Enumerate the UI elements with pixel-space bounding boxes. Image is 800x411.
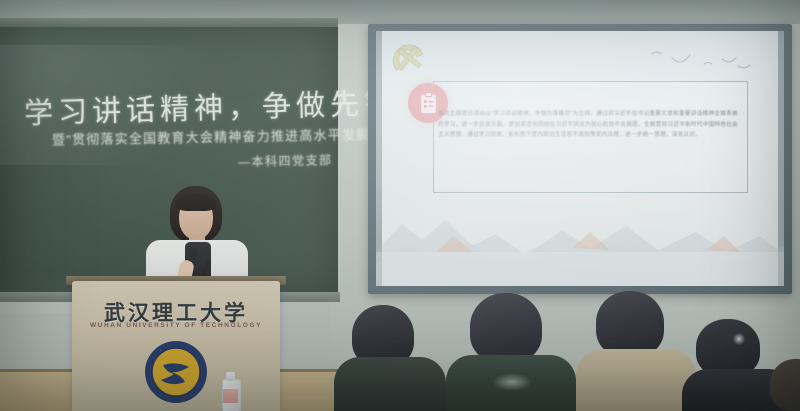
water-bottle: [222, 372, 239, 410]
audience-member-5: [770, 353, 800, 411]
podium: 武汉理工大学 WUHAN UNIVERSITY OF TECHNOLOGY ·: [72, 281, 280, 411]
presenter: [138, 186, 256, 288]
blackboard-frame: [0, 18, 338, 27]
audience-head: [596, 291, 664, 357]
audience-torso: [576, 349, 696, 411]
projection-screen: 本次主题党日活动以"学习讲话精神，争做先锋模范"为主线，通过对习近平总书记重要文…: [376, 31, 784, 286]
cpc-party-emblem: [386, 37, 432, 81]
audience-member-2: [446, 293, 576, 411]
hair-accessory: [732, 333, 746, 345]
bottle-label: [223, 389, 238, 403]
audience-torso: [446, 355, 576, 411]
clipboard-icon: [419, 92, 438, 114]
podium-university-name-en: WUHAN UNIVERSITY OF TECHNOLOGY: [72, 322, 280, 329]
bottle-cap: [226, 372, 235, 381]
audience-head: [470, 293, 542, 363]
flying-birds-decoration: [646, 45, 766, 81]
blackboard-signature: —本科四党支部: [238, 151, 333, 170]
audience-head: [770, 359, 800, 411]
audience-member-1: [334, 301, 446, 411]
university-logo-icon: ·: [143, 339, 209, 405]
photo-scene: 学习讲话精神，争做先锋模范 暨"贯彻落实全国教育大会精神奋力推进高水平发展"主题…: [0, 0, 800, 411]
audience-member-3: [576, 291, 696, 411]
presenter-fringe: [176, 194, 216, 211]
audience-torso: [334, 357, 446, 411]
shirt-graphic: [492, 373, 532, 391]
slide-body-text: 本次主题党日活动以"学习讲话精神，争做先锋模范"为主线，通过对习近平总书记重要文…: [438, 109, 738, 141]
ink-wash-mountain-decoration: [376, 200, 784, 286]
